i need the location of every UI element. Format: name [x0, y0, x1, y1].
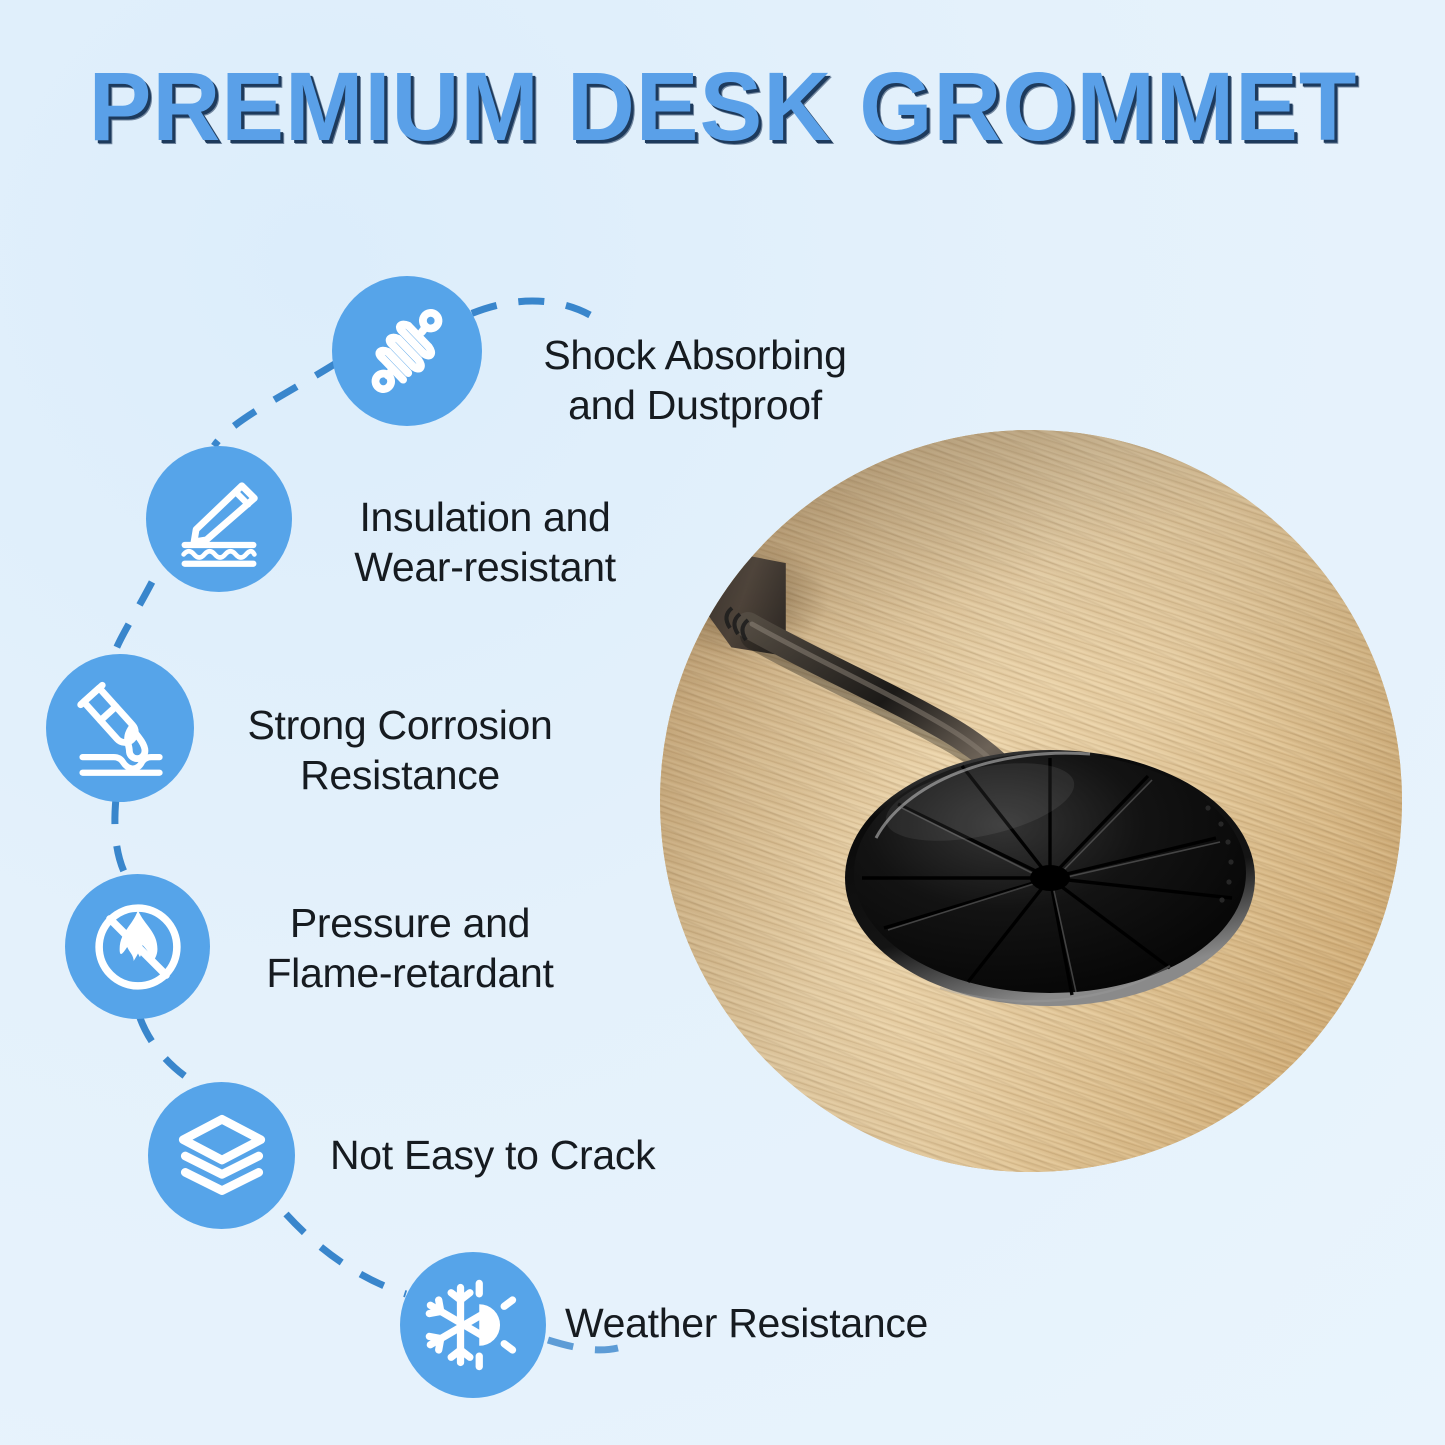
no-flame-icon: [84, 893, 192, 1001]
feature-label-insulation-wear: Insulation and Wear-resistant: [300, 492, 670, 592]
feature-badge-weather-resistance[interactable]: [400, 1252, 546, 1398]
feature-badge-flame-retardant[interactable]: [65, 874, 210, 1019]
infographic-canvas: PREMIUM DESK GROMMET: [0, 0, 1445, 1445]
feature-label-corrosion-resistance: Strong Corrosion Resistance: [205, 700, 595, 800]
snowflake-sun-icon: [421, 1273, 525, 1377]
test-tube-droplet-icon: [68, 676, 172, 780]
feature-label-shock-absorbing: Shock Absorbing and Dustproof: [510, 330, 880, 430]
feature-label-flame-retardant: Pressure and Flame-retardant: [215, 898, 605, 998]
feature-label-weather-resistance: Weather Resistance: [565, 1298, 1065, 1348]
page-title: PREMIUM DESK GROMMET: [0, 58, 1445, 155]
shock-absorber-icon: [355, 299, 459, 403]
feature-badge-not-easy-to-crack[interactable]: [148, 1082, 295, 1229]
feature-badge-corrosion-resistance[interactable]: [46, 654, 194, 802]
layers-stack-icon: [171, 1105, 273, 1207]
page-title-text: PREMIUM DESK GROMMET: [88, 58, 1357, 155]
desk-grommet-installed-photo: [660, 430, 1402, 1172]
feature-badge-insulation-wear[interactable]: [146, 446, 292, 592]
insulation-wear-icon: [167, 467, 271, 571]
desk-grommet-disc: [840, 730, 1260, 1020]
feature-badge-shock-absorbing[interactable]: [332, 276, 482, 426]
